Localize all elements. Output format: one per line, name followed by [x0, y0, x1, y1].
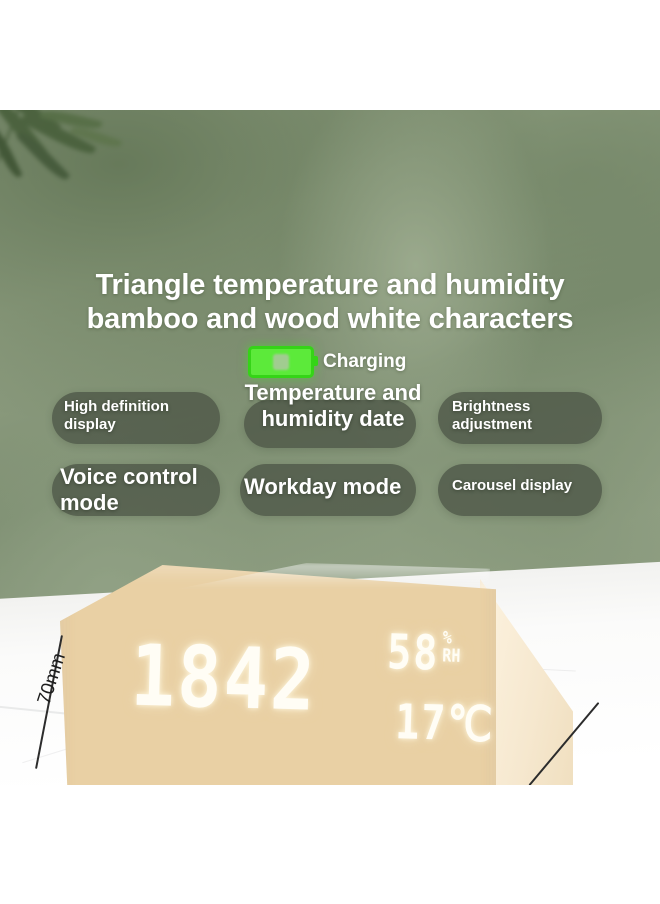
led-humidity-display: 58 % RH	[386, 625, 461, 682]
headline-line-2: bamboo and wood white characters	[0, 302, 660, 336]
feature-chip-grid: High definition display Temperature and …	[0, 386, 660, 526]
feature-chip-row-1: High definition display Temperature and …	[0, 386, 660, 456]
feature-chip-label: Brightness adjustment	[452, 398, 532, 433]
charging-badge: Charging	[248, 346, 406, 378]
humidity-value: 58	[386, 625, 440, 682]
led-temperature-display: 17℃	[394, 695, 495, 753]
feature-chip-label: Carousel display	[452, 477, 572, 495]
product-photo: 1842 58 % RH 17℃ 70mm 150mm 80mm Triangl…	[0, 110, 660, 785]
feature-chip-label: High definition display	[64, 398, 169, 433]
product-image-canvas: 1842 58 % RH 17℃ 70mm 150mm 80mm Triangl…	[0, 0, 660, 904]
bolt-glyph	[273, 354, 289, 370]
feature-chip-label: Voice control mode	[60, 464, 198, 516]
charging-label: Charging	[323, 351, 406, 373]
rh-label: RH	[442, 647, 461, 666]
wooden-clock-product: 1842 58 % RH 17℃	[60, 565, 570, 785]
headline-line-1: Triangle temperature and humidity	[0, 268, 660, 302]
humidity-unit: % RH	[442, 629, 461, 666]
feature-chip-label: Temperature and humidity date	[238, 380, 428, 432]
battery-charging-icon	[248, 346, 314, 378]
led-time-display: 1842	[129, 627, 318, 730]
page-title: Triangle temperature and humidity bamboo…	[0, 268, 660, 336]
feature-chip-label: Workday mode	[244, 474, 401, 500]
feature-chip-row-2: Voice control mode Workday mode Carousel…	[0, 456, 660, 526]
bamboo-leaves-icon	[0, 110, 154, 212]
